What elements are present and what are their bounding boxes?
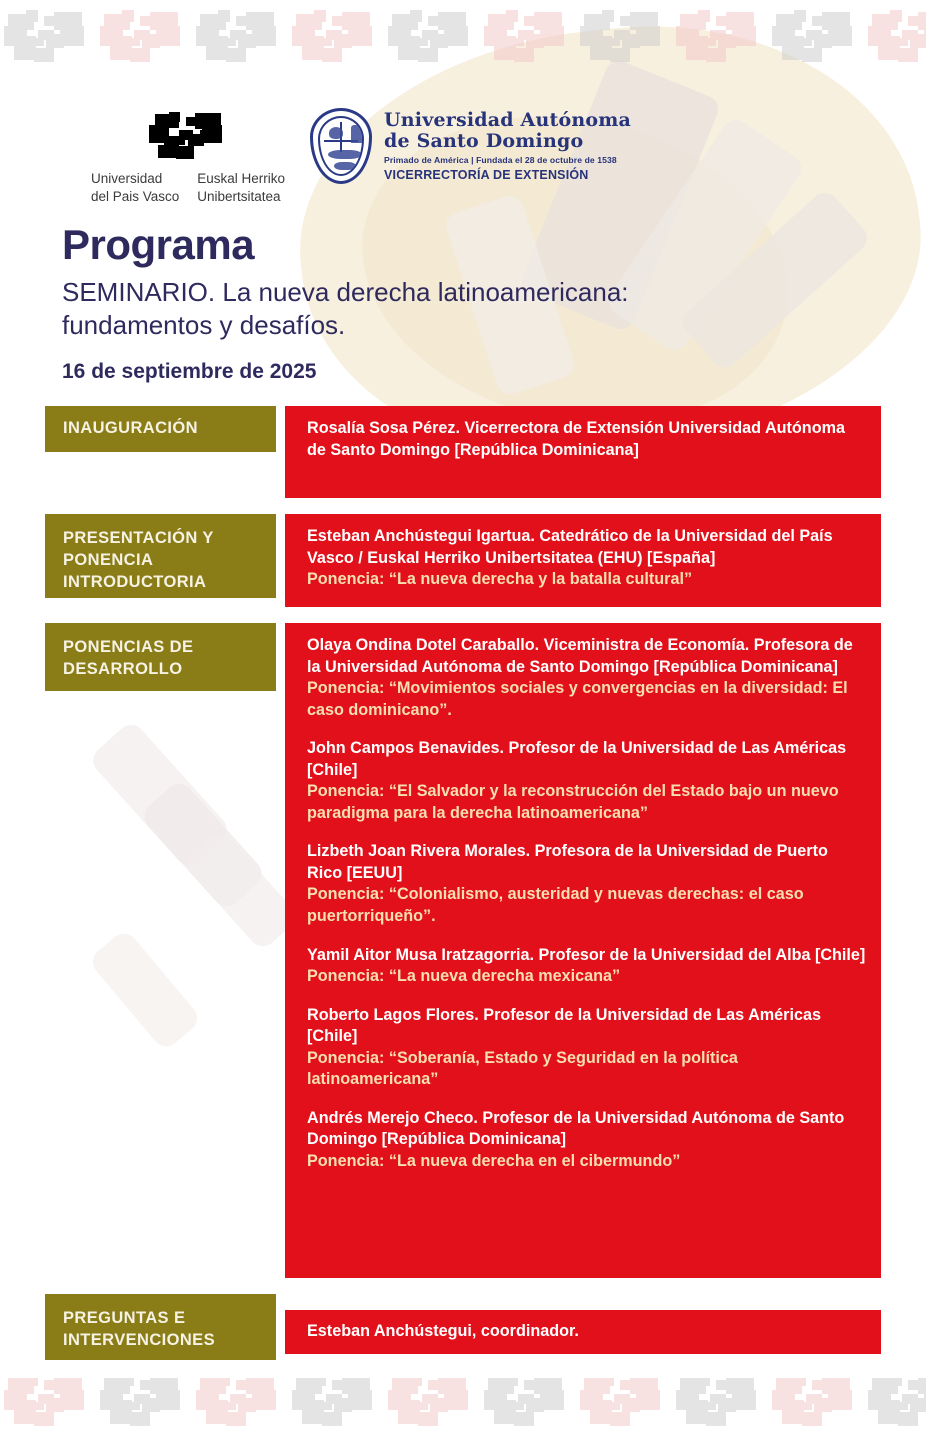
uasd-title-line2: de Santo Domingo <box>384 131 631 152</box>
program-section-label: PRESENTACIÓN Y PONENCIA INTRODUCTORIA <box>45 514 276 598</box>
speaker-line: Esteban Anchústegui, coordinador. <box>307 1321 867 1343</box>
ehu-lauburu-motif <box>864 8 926 70</box>
heading-block: Programa SEMINARIO. La nueva derecha lat… <box>62 222 822 384</box>
ehu-lauburu-motif <box>192 8 288 70</box>
entry-gap <box>307 1091 867 1108</box>
speaker-line: Roberto Lagos Flores. Profesor de la Uni… <box>307 1005 867 1048</box>
talk-title-line: Ponencia: “Movimientos sociales y conver… <box>307 678 867 721</box>
decorative-band-top <box>0 0 926 78</box>
poster-root: Universidad del Pais Vasco Euskal Herrik… <box>0 0 926 1438</box>
ehu-lauburu-motif <box>384 8 480 70</box>
program-row: PREGUNTAS E INTERVENCIONESEsteban Anchús… <box>45 1294 881 1360</box>
uasd-logo: Universidad Autónoma de Santo Domingo Pr… <box>310 108 631 184</box>
ehu-lauburu-motif <box>384 1378 480 1430</box>
speaker-line: Lizbeth Joan Rivera Morales. Profesora d… <box>307 841 867 884</box>
program-section-label: PONENCIAS DE DESARROLLO <box>45 623 276 691</box>
talk-title-line: Ponencia: “Soberanía, Estado y Seguridad… <box>307 1048 867 1091</box>
talk-title-line: Ponencia: “El Salvador y la reconstrucci… <box>307 781 867 824</box>
page-title: Programa <box>62 222 822 268</box>
ehu-lauburu-motif <box>576 1378 672 1430</box>
ehu-lauburu-motif <box>0 1378 96 1430</box>
entry-gap <box>307 928 867 945</box>
uasd-title-line1: Universidad Autónoma <box>384 110 631 131</box>
ehu-lauburu-motif <box>768 1378 864 1430</box>
entry-gap <box>307 824 867 841</box>
program-row: INAUGURACIÓNRosalía Sosa Pérez. Vicerrec… <box>45 406 881 498</box>
program-row: PRESENTACIÓN Y PONENCIA INTRODUCTORIAEst… <box>45 514 881 607</box>
ehu-lauburu-motif <box>576 8 672 70</box>
talk-title-line: Ponencia: “Colonialismo, austeridad y nu… <box>307 884 867 927</box>
speaker-line: Rosalía Sosa Pérez. Vicerrectora de Exte… <box>307 418 867 461</box>
speaker-line: John Campos Benavides. Profesor de la Un… <box>307 738 867 781</box>
talk-title-line: Ponencia: “La nueva derecha mexicana” <box>307 966 867 988</box>
talk-title-line: Ponencia: “La nueva derecha en el ciberm… <box>307 1151 867 1173</box>
ehu-lauburu-icon <box>145 112 231 164</box>
ehu-lauburu-motif <box>0 8 96 70</box>
uasd-tagline: Primado de América | Fundada el 28 de oc… <box>384 155 631 165</box>
ehu-logo-text: Universidad del Pais Vasco Euskal Herrik… <box>78 170 298 206</box>
uasd-logo-text: Universidad Autónoma de Santo Domingo Pr… <box>384 110 631 183</box>
uasd-unit-name: VICERRECTORÍA DE EXTENSIÓN <box>384 168 631 182</box>
ehu-lauburu-motif <box>480 8 576 70</box>
uasd-shield-icon <box>310 108 372 184</box>
program-row: PONENCIAS DE DESARROLLOOlaya Ondina Dote… <box>45 623 881 1278</box>
ehu-lauburu-motif <box>768 8 864 70</box>
program-section-label: INAUGURACIÓN <box>45 406 276 452</box>
ehu-lauburu-motif <box>96 1378 192 1430</box>
ehu-lauburu-motif <box>96 8 192 70</box>
ehu-logo: Universidad del Pais Vasco Euskal Herrik… <box>78 112 298 206</box>
program-section-label: PREGUNTAS E INTERVENCIONES <box>45 1294 276 1360</box>
program-table: INAUGURACIÓNRosalía Sosa Pérez. Vicerrec… <box>45 406 881 1376</box>
program-section-content: Rosalía Sosa Pérez. Vicerrectora de Exte… <box>285 406 881 498</box>
ehu-lauburu-motif <box>288 1378 384 1430</box>
entry-gap <box>307 721 867 738</box>
speaker-line: Esteban Anchústegui Igartua. Catedrático… <box>307 526 867 569</box>
event-date: 16 de septiembre de 2025 <box>62 360 822 384</box>
ehu-name-es-line1: Universidad <box>91 170 179 188</box>
logo-row: Universidad del Pais Vasco Euskal Herrik… <box>0 112 926 212</box>
talk-title-line: Ponencia: “La nueva derecha y la batalla… <box>307 569 867 591</box>
ehu-lauburu-motif <box>864 1378 926 1430</box>
decorative-band-bottom <box>0 1378 926 1438</box>
speaker-line: Olaya Ondina Dotel Caraballo. Viceminist… <box>307 635 867 678</box>
entry-gap <box>307 988 867 1005</box>
speaker-line: Andrés Merejo Checo. Profesor de la Univ… <box>307 1108 867 1151</box>
ehu-lauburu-motif <box>480 1378 576 1430</box>
ehu-name-eu-line2: Unibertsitatea <box>197 188 285 206</box>
program-section-content: Olaya Ondina Dotel Caraballo. Viceminist… <box>285 623 881 1278</box>
speaker-line: Yamil Aitor Musa Iratzagorria. Profesor … <box>307 945 867 967</box>
program-section-content: Esteban Anchústegui Igartua. Catedrático… <box>285 514 881 607</box>
ehu-lauburu-motif <box>672 8 768 70</box>
ehu-lauburu-motif <box>672 1378 768 1430</box>
ehu-name-es-line2: del Pais Vasco <box>91 188 179 206</box>
page-subtitle: SEMINARIO. La nueva derecha latinoameric… <box>62 276 752 342</box>
ehu-name-eu-line1: Euskal Herriko <box>197 170 285 188</box>
ehu-lauburu-motif <box>192 1378 288 1430</box>
program-section-content: Esteban Anchústegui, coordinador. <box>285 1310 881 1354</box>
ehu-lauburu-motif <box>288 8 384 70</box>
